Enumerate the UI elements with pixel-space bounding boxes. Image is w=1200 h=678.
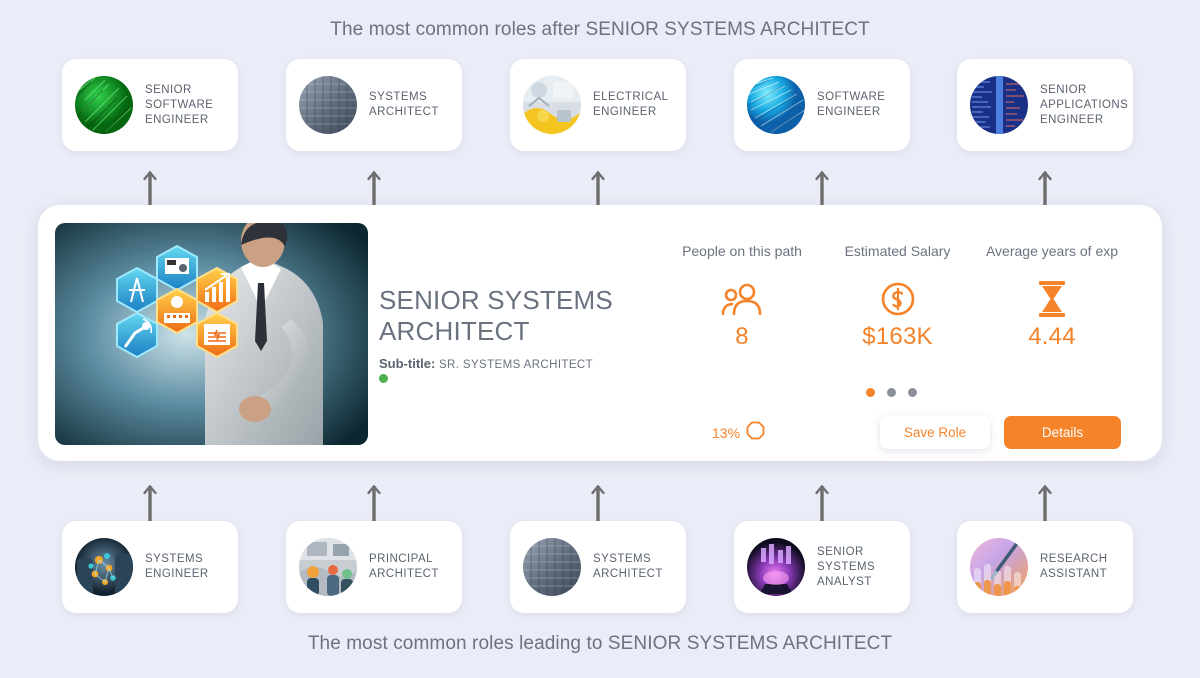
stat-label: Estimated Salary xyxy=(820,243,975,259)
role-card-prev-3[interactable]: SENIOR SYSTEMS ANALYST xyxy=(734,521,910,613)
stat-people-on-path: People on this path 8 xyxy=(662,243,822,351)
top-caption: The most common roles after SENIOR SYSTE… xyxy=(0,19,1200,41)
arrow-up-prev-2 xyxy=(590,466,606,521)
stat-value: 8 xyxy=(662,323,822,351)
role-card-prev-2[interactable]: SYSTEMS ARCHITECT xyxy=(510,521,686,613)
role-card-next-1[interactable]: SYSTEMS ARCHITECT xyxy=(286,59,462,151)
role-card-label: SENIOR APPLICATIONS ENGINEER xyxy=(1040,83,1128,128)
cyan-code-sphere-icon xyxy=(747,76,805,134)
network-people-icon xyxy=(75,538,133,596)
stat-estimated-salary: Estimated Salary $163K xyxy=(820,243,975,351)
arrow-up-next-1 xyxy=(366,152,382,207)
role-card-prev-4[interactable]: RESEARCH ASSISTANT xyxy=(957,521,1133,613)
stat-label: Average years of exp xyxy=(972,243,1132,259)
carousel-dot-1[interactable] xyxy=(887,388,896,397)
people-icon xyxy=(662,279,822,319)
subtitle-value: SR. SYSTEMS ARCHITECT xyxy=(439,359,593,371)
save-role-button[interactable]: Save Role xyxy=(880,416,990,449)
role-card-label: SYSTEMS ARCHITECT xyxy=(593,552,673,582)
purple-laptop-glow-icon xyxy=(747,538,805,596)
team-meeting-icon xyxy=(299,538,357,596)
stat-average-years-exp: Average years of exp 4.44 xyxy=(972,243,1132,351)
carousel-dot-0[interactable] xyxy=(866,388,875,397)
carousel-dots[interactable] xyxy=(866,388,917,397)
details-button[interactable]: Details xyxy=(1004,416,1121,449)
role-card-prev-0[interactable]: SYSTEMS ENGINEER xyxy=(62,521,238,613)
role-card-next-4[interactable]: SENIOR APPLICATIONS ENGINEER xyxy=(957,59,1133,151)
role-card-label: SYSTEMS ARCHITECT xyxy=(369,90,449,120)
lab-pipette-icon xyxy=(970,538,1028,596)
grey-building-facade-icon xyxy=(299,76,357,134)
role-card-label: SOFTWARE ENGINEER xyxy=(817,90,897,120)
role-card-next-3[interactable]: SOFTWARE ENGINEER xyxy=(734,59,910,151)
arrow-up-next-3 xyxy=(814,152,830,207)
green-matrix-code-icon xyxy=(75,76,133,134)
hourglass-icon xyxy=(972,279,1132,319)
role-card-label: PRINCIPAL ARCHITECT xyxy=(369,552,449,582)
role-card-next-2[interactable]: ELECTRICAL ENGINEER xyxy=(510,59,686,151)
arrow-up-prev-4 xyxy=(1037,466,1053,521)
stat-value: $163K xyxy=(820,323,975,351)
main-role-title: SENIOR SYSTEMS ARCHITECT xyxy=(379,285,679,347)
role-card-label: SYSTEMS ENGINEER xyxy=(145,552,225,582)
arrow-up-next-0 xyxy=(142,152,158,207)
role-card-next-0[interactable]: SENIOR SOFTWARE ENGINEER xyxy=(62,59,238,151)
arrow-up-prev-3 xyxy=(814,466,830,521)
dollar-circle-icon xyxy=(820,279,975,319)
subtitle-key: Sub-title: xyxy=(379,356,435,371)
grey-building-facade-icon xyxy=(523,538,581,596)
blue-code-screen-icon xyxy=(970,76,1028,134)
arrow-up-prev-1 xyxy=(366,466,382,521)
role-card-label: ELECTRICAL ENGINEER xyxy=(593,90,673,120)
progress-ring-icon xyxy=(746,421,765,445)
role-card-prev-1[interactable]: PRINCIPAL ARCHITECT xyxy=(286,521,462,613)
role-card-label: SENIOR SYSTEMS ANALYST xyxy=(817,545,897,590)
match-progress: 13% xyxy=(712,421,765,445)
electrical-worker-icon xyxy=(523,76,581,134)
main-role-subtitle: Sub-title: SR. SYSTEMS ARCHITECT xyxy=(379,356,593,371)
role-card-label: RESEARCH ASSISTANT xyxy=(1040,552,1120,582)
arrow-up-prev-0 xyxy=(142,466,158,521)
role-card-label: SENIOR SOFTWARE ENGINEER xyxy=(145,83,225,128)
progress-percent: 13% xyxy=(712,425,740,441)
stat-label: People on this path xyxy=(662,243,822,259)
arrow-up-next-2 xyxy=(590,152,606,207)
bottom-caption: The most common roles leading to SENIOR … xyxy=(0,633,1200,655)
carousel-dot-2[interactable] xyxy=(908,388,917,397)
status-badge xyxy=(379,374,388,383)
stat-value: 4.44 xyxy=(972,323,1132,351)
arrow-up-next-4 xyxy=(1037,152,1053,207)
businessman-touching-hexagon-tech-icons xyxy=(55,223,368,445)
